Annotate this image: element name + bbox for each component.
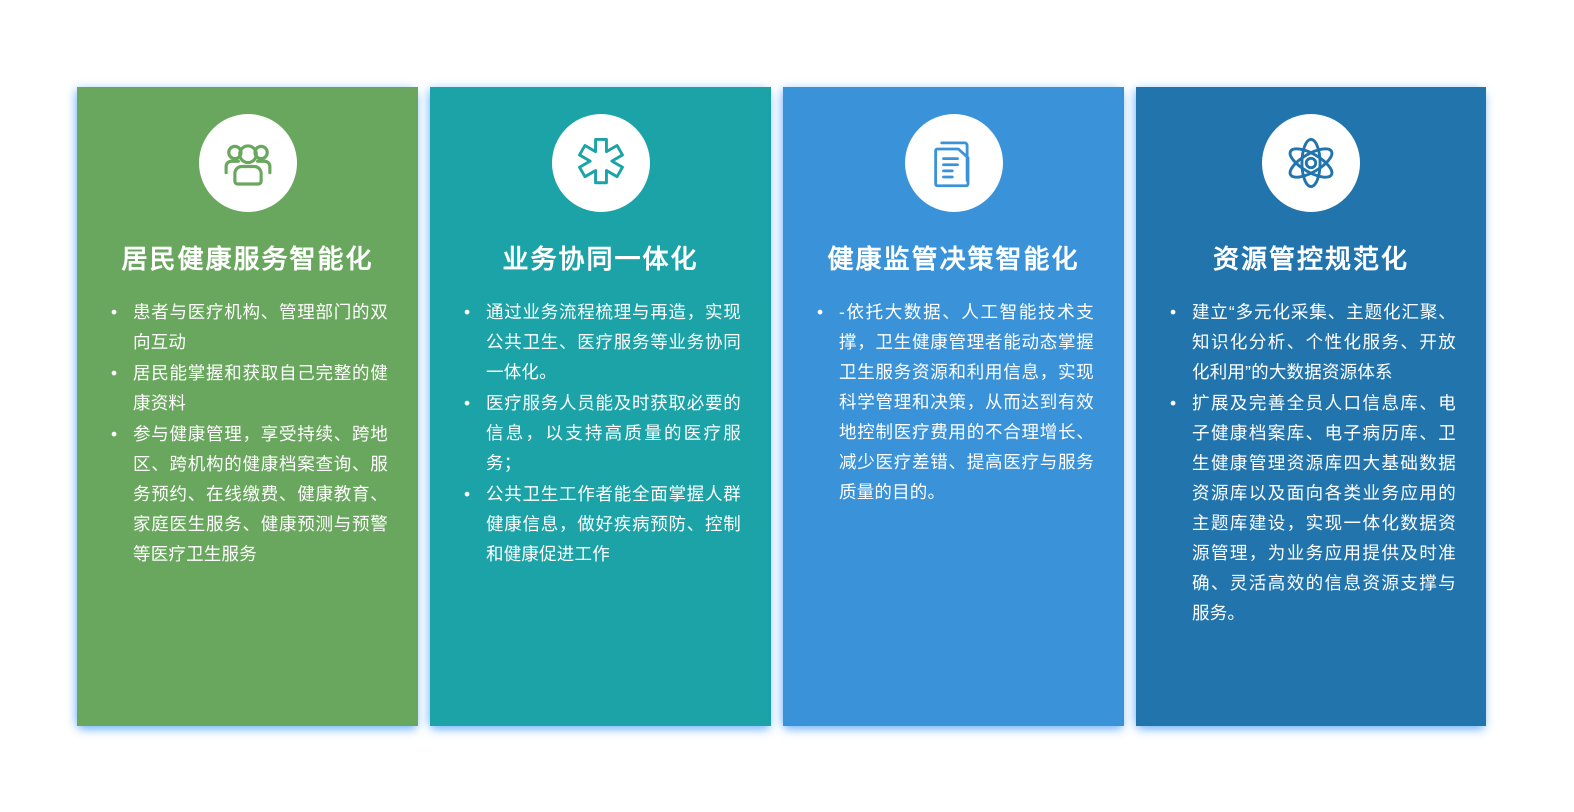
list-item-text: 参与健康管理，享受持续、跨地区、跨机构的健康档案查询、服务预约、在线缴费、健康教… (133, 424, 388, 564)
card-bullet-list: •通过业务流程梳理与再造，实现公共卫生、医疗服务等业务协同一体化。•医疗服务人员… (430, 297, 771, 569)
list-item-text: 医疗服务人员能及时获取必要的信息，以支持高质量的医疗服务； (486, 393, 741, 473)
bullet-dot-icon: • (1170, 297, 1176, 327)
card-title: 业务协同一体化 (430, 244, 771, 275)
atom-icon (1262, 114, 1360, 212)
medical-asterisk-icon (552, 114, 650, 212)
card-health-supervision[interactable]: 健康监管决策智能化•-依托大数据、人工智能技术支撑，卫生健康管理者能动态掌握卫生… (783, 87, 1124, 726)
list-item-text: 扩展及完善全员人口信息库、电子健康档案库、电子病历库、卫生健康管理资源库四大基础… (1192, 393, 1456, 623)
bullet-dot-icon: • (111, 358, 117, 388)
bullet-dot-icon: • (111, 419, 117, 449)
bullet-dot-icon: • (111, 297, 117, 327)
card-icon-area (783, 87, 1124, 212)
card-title: 健康监管决策智能化 (783, 244, 1124, 275)
list-item: •-依托大数据、人工智能技术支撑，卫生健康管理者能动态掌握卫生服务资源和利用信息… (813, 297, 1094, 507)
list-item: •医疗服务人员能及时获取必要的信息，以支持高质量的医疗服务； (460, 388, 741, 478)
bullet-dot-icon: • (464, 388, 470, 418)
cards-row: 居民健康服务智能化•患者与医疗机构、管理部门的双向互动•居民能掌握和获取自己完整… (77, 87, 1487, 726)
list-item-text: 建立“多元化采集、主题化汇聚、知识化分析、个性化服务、开放化利用”的大数据资源体… (1192, 302, 1456, 382)
list-item-text: 患者与医疗机构、管理部门的双向互动 (133, 302, 388, 352)
list-item: •居民能掌握和获取自己完整的健康资料 (107, 358, 388, 418)
card-icon-area (77, 87, 418, 212)
list-item: •通过业务流程梳理与再造，实现公共卫生、医疗服务等业务协同一体化。 (460, 297, 741, 387)
list-item: •公共卫生工作者能全面掌握人群健康信息，做好疾病预防、控制和健康促进工作 (460, 479, 741, 569)
infographic-board: 居民健康服务智能化•患者与医疗机构、管理部门的双向互动•居民能掌握和获取自己完整… (0, 0, 1574, 812)
card-resident-health-service[interactable]: 居民健康服务智能化•患者与医疗机构、管理部门的双向互动•居民能掌握和获取自己完整… (77, 87, 418, 726)
card-icon-area (1136, 87, 1486, 212)
card-bullet-list: •-依托大数据、人工智能技术支撑，卫生健康管理者能动态掌握卫生服务资源和利用信息… (783, 297, 1124, 507)
card-business-collaboration[interactable]: 业务协同一体化•通过业务流程梳理与再造，实现公共卫生、医疗服务等业务协同一体化。… (430, 87, 771, 726)
card-bullet-list: •患者与医疗机构、管理部门的双向互动•居民能掌握和获取自己完整的健康资料•参与健… (77, 297, 418, 569)
card-title: 资源管控规范化 (1136, 244, 1486, 275)
list-item: •建立“多元化采集、主题化汇聚、知识化分析、个性化服务、开放化利用”的大数据资源… (1166, 297, 1456, 387)
bullet-dot-icon: • (817, 297, 823, 327)
list-item: •扩展及完善全员人口信息库、电子健康档案库、电子病历库、卫生健康管理资源库四大基… (1166, 388, 1456, 628)
bullet-dot-icon: • (1170, 388, 1176, 418)
list-item-text: 通过业务流程梳理与再造，实现公共卫生、医疗服务等业务协同一体化。 (486, 302, 741, 382)
list-item-text: -依托大数据、人工智能技术支撑，卫生健康管理者能动态掌握卫生服务资源和利用信息，… (839, 302, 1094, 502)
bullet-dot-icon: • (464, 479, 470, 509)
card-title: 居民健康服务智能化 (77, 244, 418, 275)
list-item: •参与健康管理，享受持续、跨地区、跨机构的健康档案查询、服务预约、在线缴费、健康… (107, 419, 388, 569)
card-resource-governance[interactable]: 资源管控规范化•建立“多元化采集、主题化汇聚、知识化分析、个性化服务、开放化利用… (1136, 87, 1486, 726)
list-item: •患者与医疗机构、管理部门的双向互动 (107, 297, 388, 357)
people-group-icon (199, 114, 297, 212)
list-item-text: 居民能掌握和获取自己完整的健康资料 (133, 363, 388, 413)
card-bullet-list: •建立“多元化采集、主题化汇聚、知识化分析、个性化服务、开放化利用”的大数据资源… (1136, 297, 1486, 628)
documents-icon (905, 114, 1003, 212)
card-icon-area (430, 87, 771, 212)
bullet-dot-icon: • (464, 297, 470, 327)
list-item-text: 公共卫生工作者能全面掌握人群健康信息，做好疾病预防、控制和健康促进工作 (486, 484, 741, 564)
